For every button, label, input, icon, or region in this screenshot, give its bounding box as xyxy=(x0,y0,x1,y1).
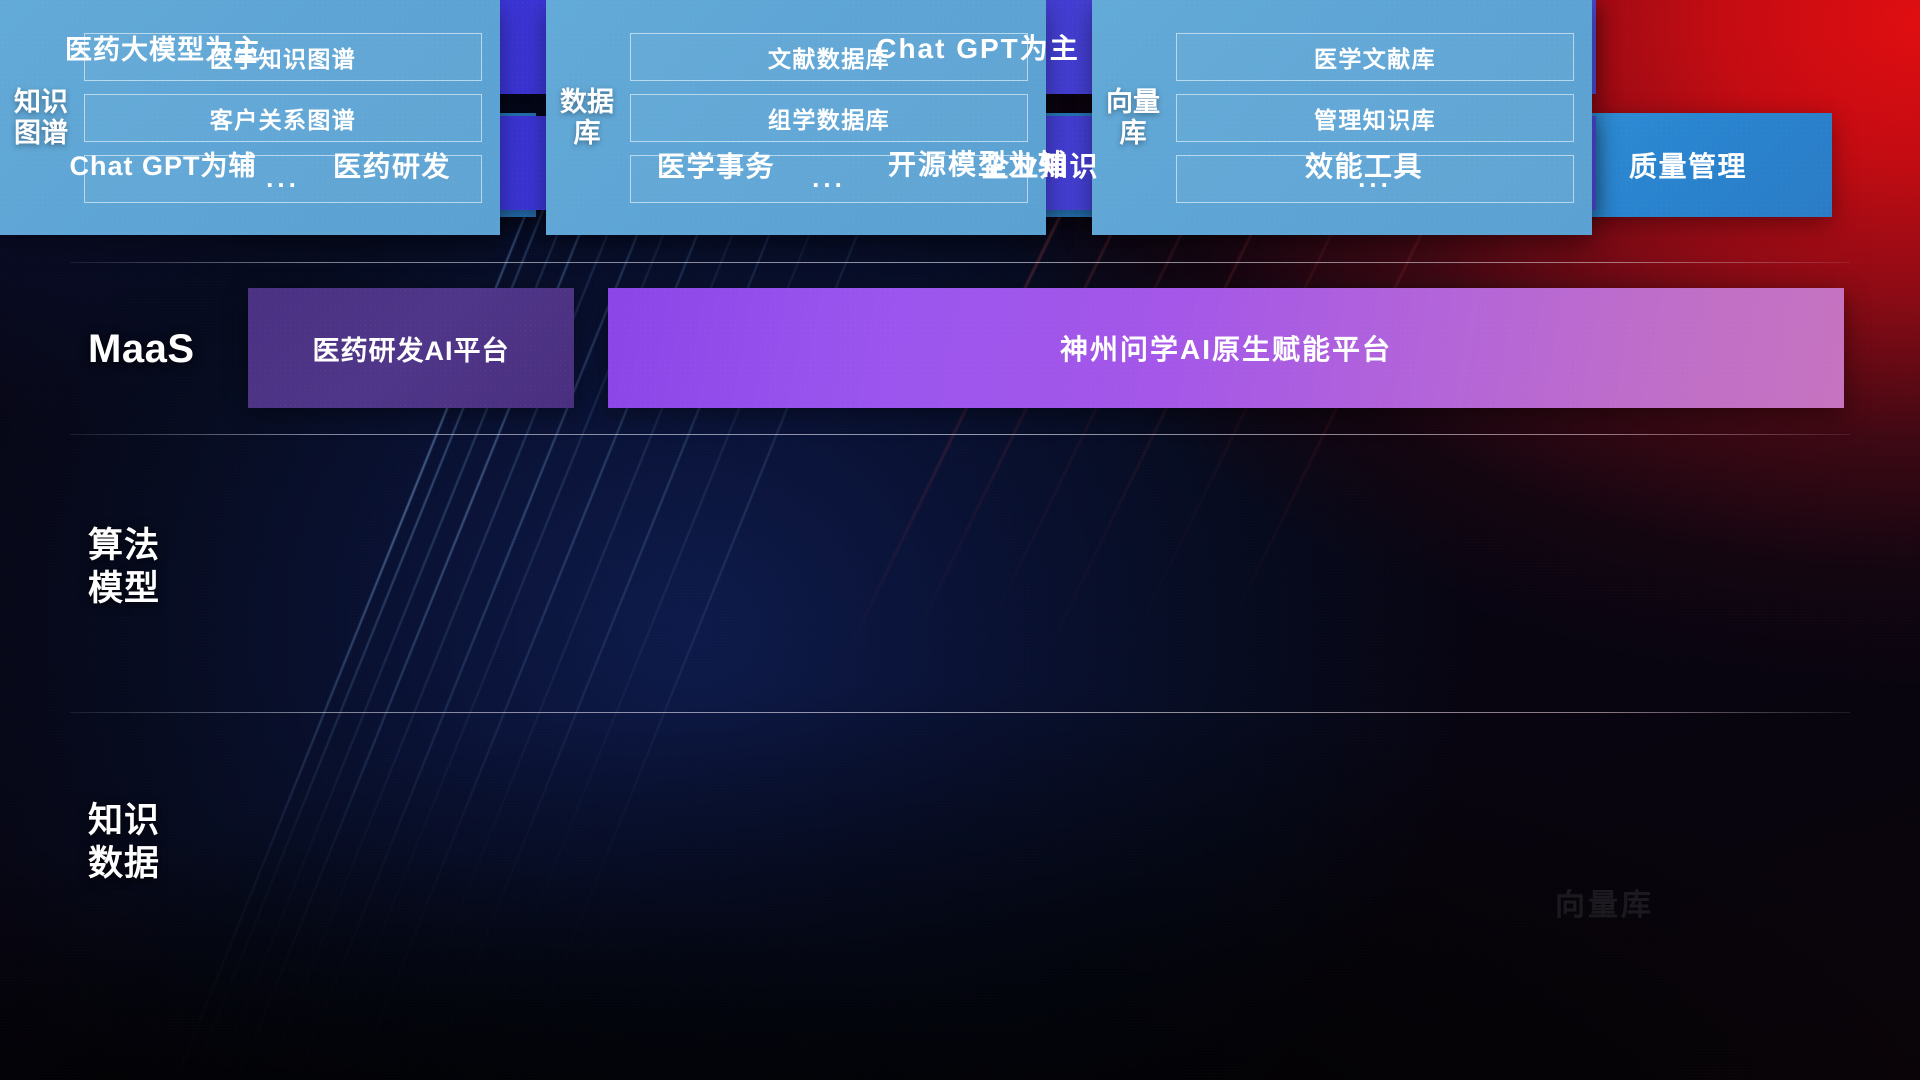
knowledge-item-label: ... xyxy=(266,163,300,194)
row-label-knowledge: 知识 数据 xyxy=(88,800,238,885)
knowledge-item-customer-relation-graph[interactable]: 客户关系图谱 xyxy=(84,94,482,142)
knowledge-group-item-list: 医学文献库 管理知识库 ... xyxy=(1164,33,1574,203)
knowledge-item-label: ... xyxy=(1358,163,1392,194)
architecture-diagram: 应用 场景 医药研发 医学事务 企业知识 效能工具 质量管理 MaaS 医药研发… xyxy=(0,0,1920,1080)
knowledge-item-label: 管理知识库 xyxy=(1314,101,1436,135)
row-label-maas-text: MaaS xyxy=(88,325,238,374)
maas-row: 医药研发AI平台 神州问学AI原生赋能平台 xyxy=(248,288,1844,408)
row-label-algorithm-line1: 算法 xyxy=(88,525,238,568)
knowledge-item-more[interactable]: ... xyxy=(84,155,482,203)
maas-card-shenzhou-wenxue-platform[interactable]: 神州问学AI原生赋能平台 xyxy=(608,288,1844,408)
maas-right-label: 神州问学AI原生赋能平台 xyxy=(1060,328,1392,368)
knowledge-item-more[interactable]: ... xyxy=(1176,155,1574,203)
knowledge-group-vector-store[interactable]: 向量库 医学文献库 管理知识库 ... xyxy=(1092,0,1592,235)
app-card-label: 质量管理 xyxy=(1629,145,1747,185)
knowledge-group-item-list: 文献数据库 组学数据库 ... xyxy=(618,33,1028,203)
knowledge-item-literature-database[interactable]: 文献数据库 xyxy=(630,33,1028,81)
row-label-algorithm-line2: 模型 xyxy=(88,568,238,611)
knowledge-group-knowledge-graph[interactable]: 知识图谱 医学知识图谱 客户关系图谱 ... xyxy=(0,0,500,235)
knowledge-item-more[interactable]: ... xyxy=(630,155,1028,203)
knowledge-group-title: 向量库 xyxy=(1102,87,1164,148)
knowledge-group-title: 知识图谱 xyxy=(10,87,72,148)
knowledge-item-label: 客户关系图谱 xyxy=(210,101,356,135)
maas-card-pharma-ai-platform[interactable]: 医药研发AI平台 xyxy=(248,288,574,408)
row-label-knowledge-line2: 数据 xyxy=(88,843,238,886)
knowledge-item-omics-database[interactable]: 组学数据库 xyxy=(630,94,1028,142)
knowledge-group-database[interactable]: 数据库 文献数据库 组学数据库 ... xyxy=(546,0,1046,235)
divider-algorithm-knowledge xyxy=(70,712,1850,713)
knowledge-item-medical-literature-store[interactable]: 医学文献库 xyxy=(1176,33,1574,81)
watermark-text: 向量库 xyxy=(1555,880,1654,924)
knowledge-item-label: 医学文献库 xyxy=(1314,40,1436,74)
knowledge-item-medical-knowledge-graph[interactable]: 医学知识图谱 xyxy=(84,33,482,81)
row-label-maas: MaaS xyxy=(88,325,238,374)
divider-application-maas xyxy=(70,262,1850,263)
knowledge-item-label: 组学数据库 xyxy=(768,101,890,135)
knowledge-item-management-knowledge-store[interactable]: 管理知识库 xyxy=(1176,94,1574,142)
row-label-knowledge-line1: 知识 xyxy=(88,800,238,843)
knowledge-item-label: 医学知识图谱 xyxy=(210,40,356,74)
knowledge-item-label: ... xyxy=(812,163,846,194)
divider-maas-algorithm xyxy=(70,434,1850,435)
maas-left-label: 医药研发AI平台 xyxy=(313,329,510,368)
knowledge-group-title: 数据库 xyxy=(556,87,618,148)
knowledge-group-item-list: 医学知识图谱 客户关系图谱 ... xyxy=(72,33,482,203)
knowledge-item-label: 文献数据库 xyxy=(768,40,890,74)
row-label-algorithm: 算法 模型 xyxy=(88,525,238,610)
